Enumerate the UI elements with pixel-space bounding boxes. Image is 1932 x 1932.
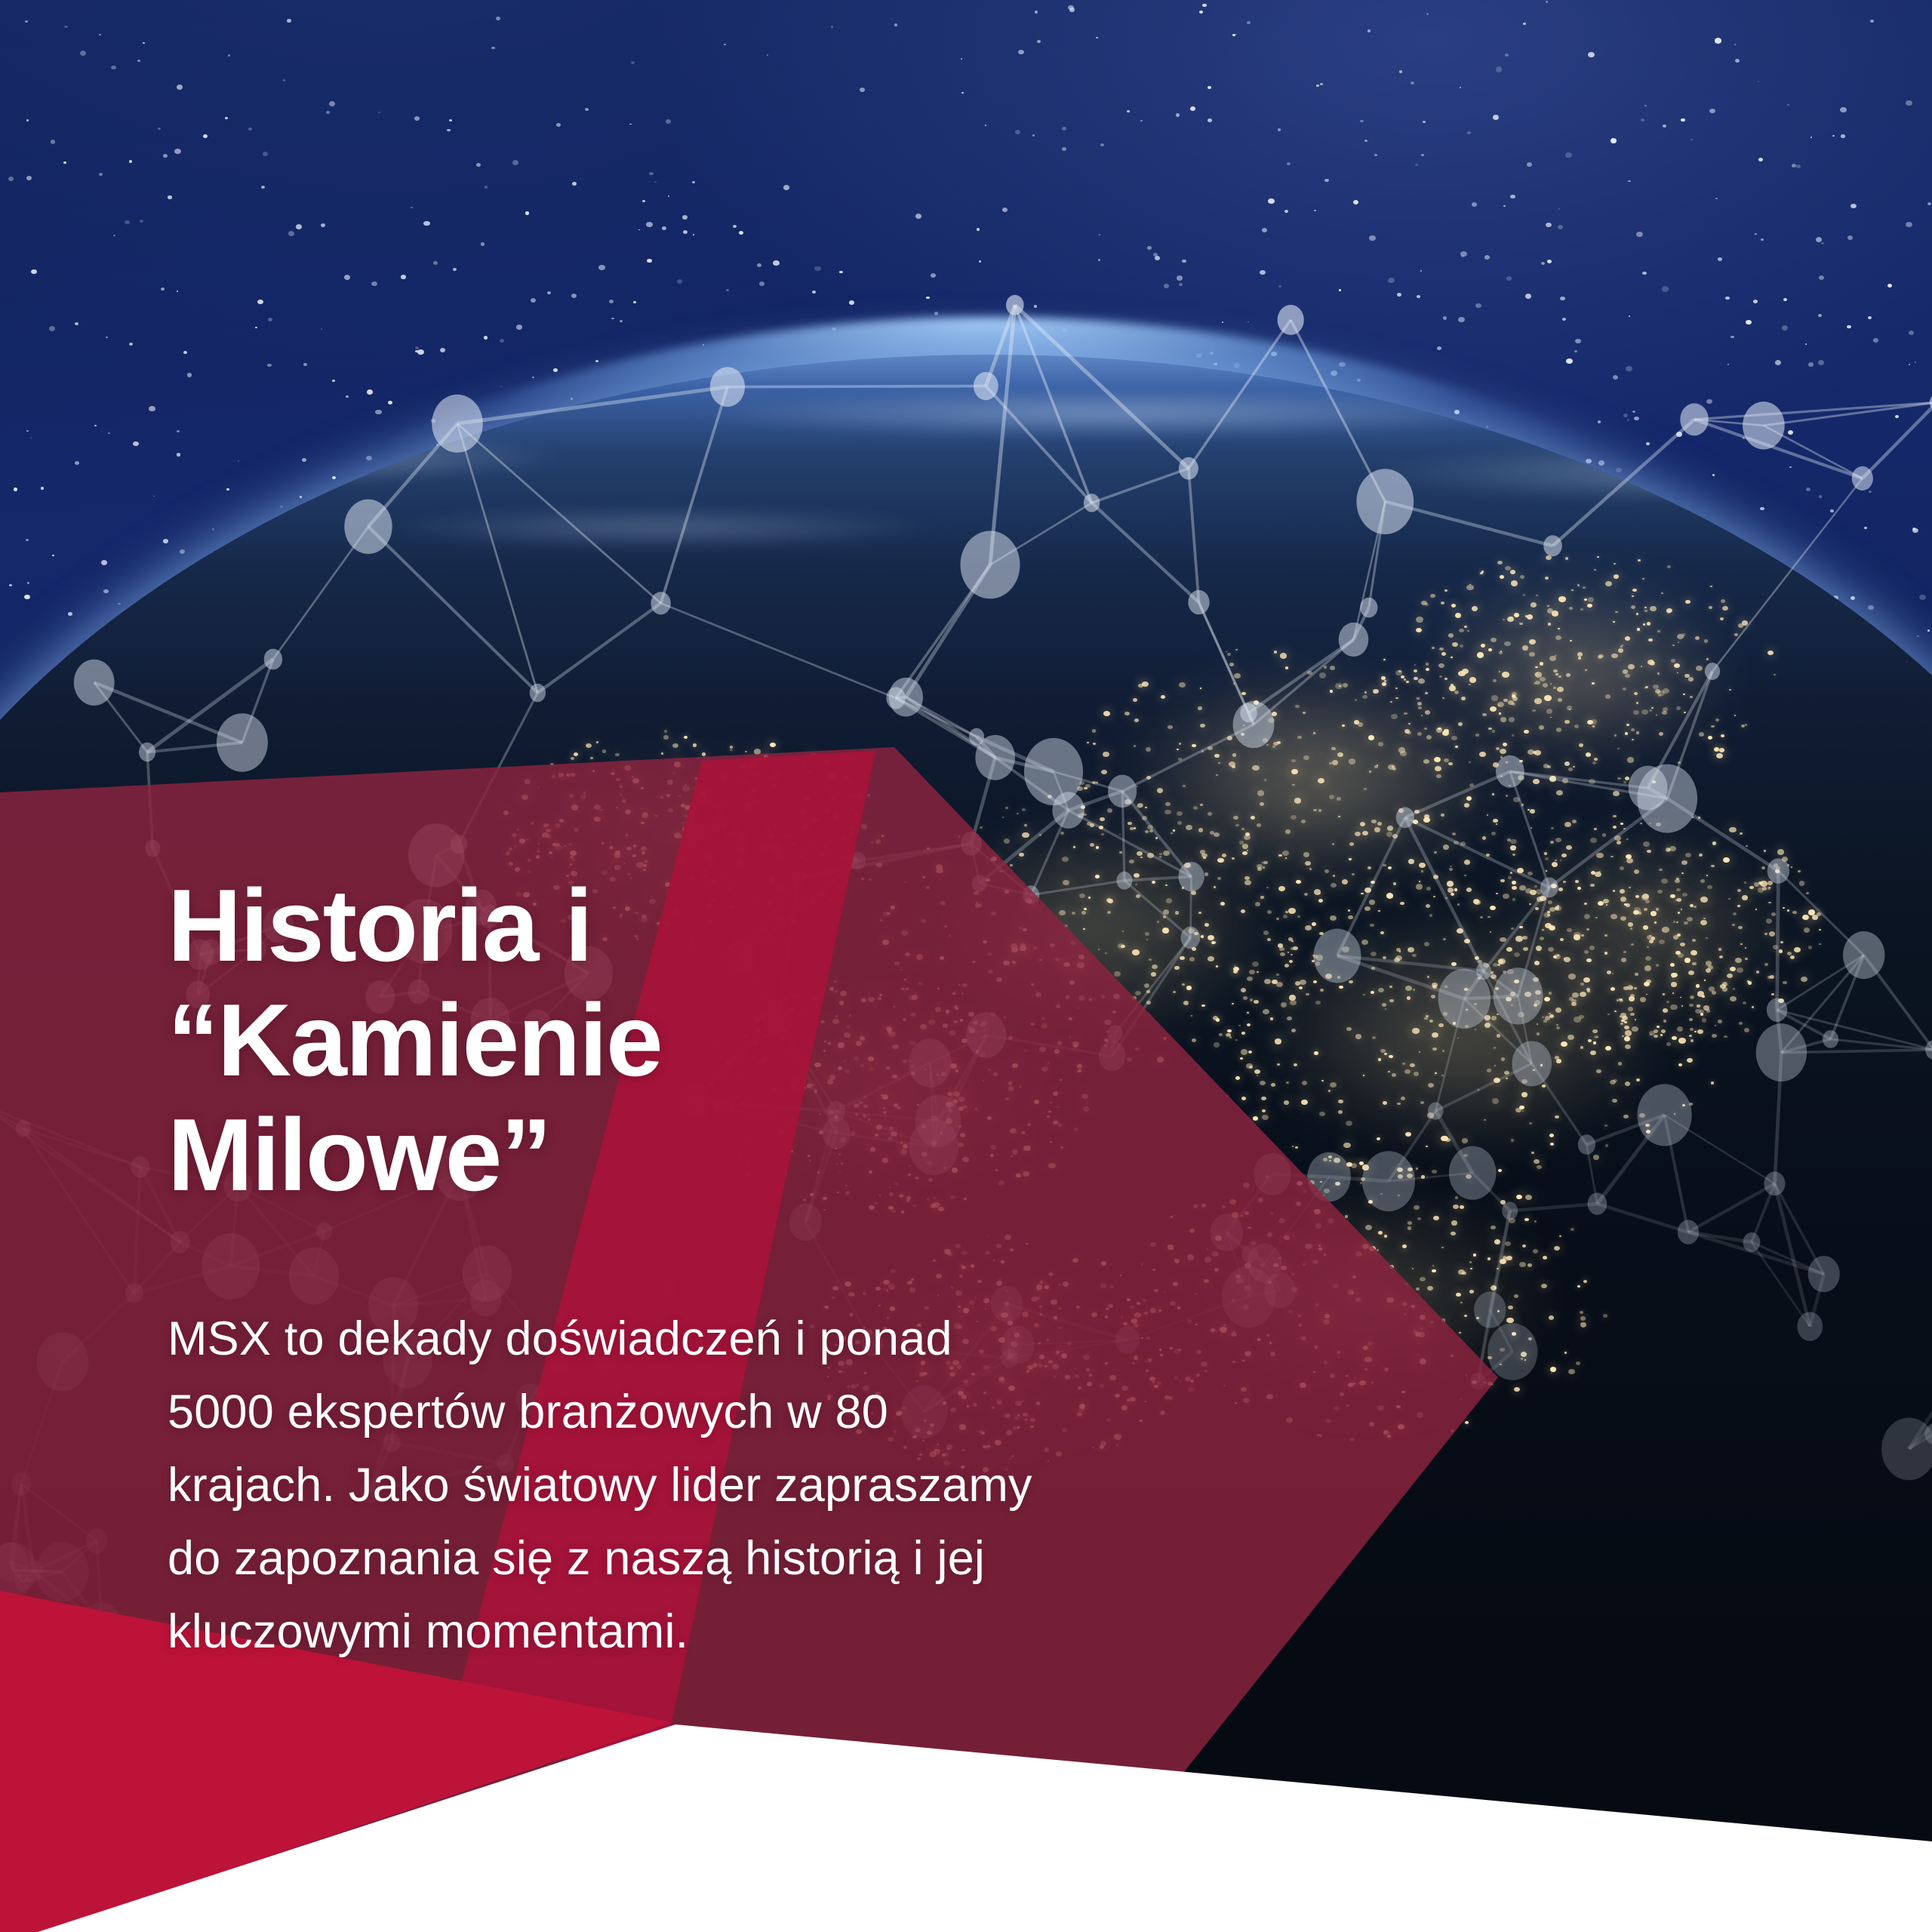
title-line-1: Historia i	[168, 868, 592, 983]
slide-canvas: Historia i “Kamienie Milowe” MSX to deka…	[0, 0, 1932, 1932]
slide-copy: Historia i “Kamienie Milowe” MSX to deka…	[168, 868, 1058, 1669]
page-title: Historia i “Kamienie Milowe”	[168, 868, 1058, 1212]
body-paragraph: MSX to dekady doświadczeń i ponad 5000 e…	[168, 1303, 1043, 1669]
title-line-2: “Kamienie Milowe”	[168, 983, 662, 1212]
